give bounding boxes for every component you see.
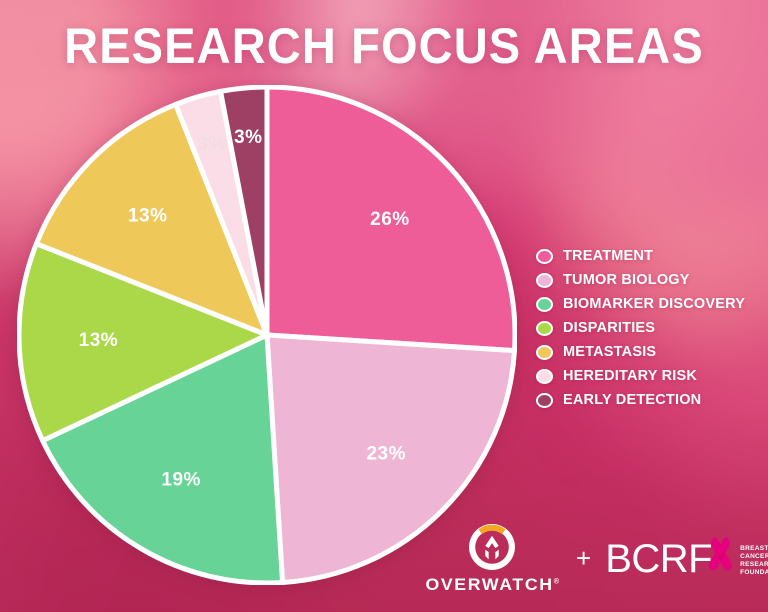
pie-slice-label: 19% <box>161 470 201 491</box>
legend-item-treatment[interactable]: TREATMENT <box>536 244 762 268</box>
pie-chart: 26%23%19%13%13%3%3% <box>17 85 517 585</box>
legend-item-label: TREATMENT <box>563 248 653 264</box>
legend-swatch-icon <box>536 369 553 384</box>
bcrf-sub-line-4: FOUNDATION <box>740 569 768 577</box>
legend-item-biomarker-discovery[interactable]: BIOMARKER DISCOVERY <box>536 292 762 316</box>
overwatch-wordmark: OVERWATCH® <box>425 575 558 595</box>
pie-slice-label: 26% <box>370 209 410 230</box>
bcrf-wordmark: BCRF <box>605 539 712 579</box>
page-title: RESEARCH FOCUS AREAS <box>23 18 745 74</box>
legend-swatch-icon <box>536 321 553 336</box>
legend-item-metastasis[interactable]: METASTASIS <box>536 340 762 364</box>
bcrf-subtitle: BREAST CANCER RESEARCH FOUNDATION <box>740 545 768 577</box>
overwatch-trademark: ® <box>554 578 559 585</box>
legend-item-early-detection[interactable]: EARLY DETECTION <box>536 388 762 412</box>
legend-item-hereditary-risk[interactable]: HEREDITARY RISK <box>536 364 762 388</box>
legend-swatch-icon <box>536 297 553 312</box>
bcrf-sub-line-1: BREAST <box>740 545 768 553</box>
legend-item-label: TUMOR BIOLOGY <box>563 272 690 288</box>
legend-item-label: HEREDITARY RISK <box>563 368 697 384</box>
pie-slice-label: 23% <box>366 444 406 465</box>
overwatch-icon <box>464 519 520 575</box>
bcrf-sub-line-3: RESEARCH <box>740 561 768 569</box>
legend-item-label: EARLY DETECTION <box>563 392 701 408</box>
legend-swatch-icon <box>536 273 553 288</box>
legend-item-label: METASTASIS <box>563 344 656 360</box>
overwatch-logo: OVERWATCH® <box>428 519 556 605</box>
chart-legend: TREATMENT TUMOR BIOLOGY BIOMARKER DISCOV… <box>536 244 762 412</box>
legend-item-label: BIOMARKER DISCOVERY <box>563 296 745 312</box>
pie-slice-label: 3% <box>197 134 225 155</box>
footer-logos: OVERWATCH® + BCRF BREAST CANCER RESEARCH… <box>418 516 768 608</box>
pie-chart-svg: 26%23%19%13%13%3%3% <box>17 85 517 585</box>
legend-item-tumor-biology[interactable]: TUMOR BIOLOGY <box>536 268 762 292</box>
legend-swatch-icon <box>536 249 553 264</box>
overwatch-wordmark-text: OVERWATCH <box>425 575 553 594</box>
pie-slice-label: 3% <box>234 127 262 148</box>
bcrf-sub-line-2: CANCER <box>740 553 768 561</box>
pie-slice-label: 13% <box>128 205 168 226</box>
legend-item-disparities[interactable]: DISPARITIES <box>536 316 762 340</box>
pie-slice-label: 13% <box>79 330 119 351</box>
legend-swatch-icon <box>536 345 553 360</box>
legend-item-label: DISPARITIES <box>563 320 655 336</box>
pink-ribbon-icon <box>704 536 738 582</box>
bcrf-logo: BCRF BREAST CANCER RESEARCH FOUNDATION <box>605 536 768 582</box>
plus-separator: + <box>576 543 591 574</box>
legend-swatch-icon <box>536 393 553 408</box>
